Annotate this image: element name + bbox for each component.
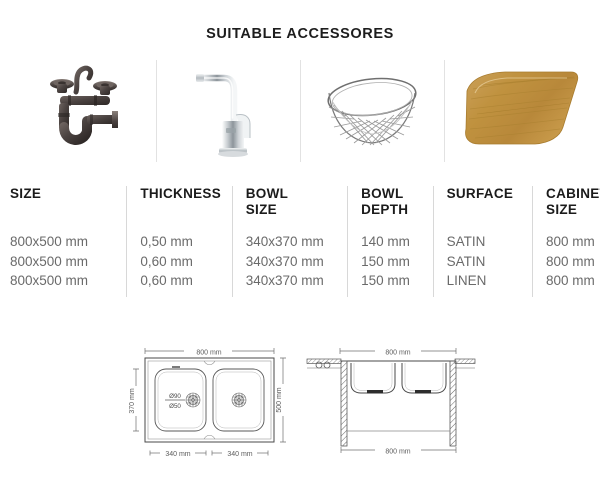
table-cell: 800 mm [546, 271, 584, 291]
table-cell: 340x370 mm [246, 232, 339, 252]
table-column-bowl-size: BOWL SIZE 340x370 mm 340x370 mm 340x370 … [232, 186, 347, 297]
table-cell: 340x370 mm [246, 271, 339, 291]
column-values-thickness: 0,50 mm 0,60 mm 0,60 mm [140, 222, 223, 297]
table-cell: 800 mm [546, 252, 584, 272]
table-column-surface: SURFACE SATIN SATIN LINEN [433, 186, 532, 297]
wooden-cutting-board-icon [453, 65, 579, 157]
dimension-label-height: 500 mm [276, 387, 283, 412]
spec-table: SIZE 800x500 mm 800x500 mm 800x500 mm TH… [10, 186, 592, 297]
column-values-size: 800x500 mm 800x500 mm 800x500 mm [10, 222, 118, 297]
column-header-surface: SURFACE [447, 186, 524, 222]
dimension-label-drain-inner: Ø50 [169, 403, 181, 410]
kitchen-faucet-icon [176, 58, 280, 164]
accessory-sink-drain-siphon-assembly [12, 56, 156, 166]
spec-sheet-page: SUITABLE ACCESSORES [0, 0, 600, 500]
dimension-label-drain-outer: Ø90 [169, 393, 181, 400]
accessory-wire-strainer-basket [300, 56, 444, 166]
column-header-thickness: THICKNESS [140, 186, 223, 222]
table-cell: 800x500 mm [10, 252, 118, 272]
column-values-surface: SATIN SATIN LINEN [447, 222, 524, 297]
table-cell: 140 mm [361, 232, 425, 252]
table-cell: 0,50 mm [140, 232, 223, 252]
table-cell: 0,60 mm [140, 271, 223, 291]
table-cell: SATIN [447, 232, 524, 252]
table-cell: 150 mm [361, 271, 425, 291]
dimension-label-bowl-width-left: 340 mm [165, 451, 190, 458]
table-cell: SATIN [447, 252, 524, 272]
accessory-kitchen-faucet [156, 56, 300, 166]
table-cell: LINEN [447, 271, 524, 291]
table-column-thickness: THICKNESS 0,50 mm 0,60 mm 0,60 mm [126, 186, 231, 297]
accessory-wooden-cutting-board [444, 56, 588, 166]
accessories-row [12, 56, 588, 166]
table-cell: 150 mm [361, 252, 425, 272]
table-cell: 800 mm [546, 232, 584, 252]
column-header-cabinet-size: CABINET SIZE [546, 186, 584, 222]
technical-drawings: 800 mm [0, 338, 600, 474]
dimension-label-width: 800 mm [196, 350, 221, 357]
column-values-bowl-depth: 140 mm 150 mm 150 mm [361, 222, 425, 297]
column-values-bowl-size: 340x370 mm 340x370 mm 340x370 mm [246, 222, 339, 297]
column-header-bowl-depth: BOWL DEPTH [361, 186, 425, 222]
dimension-label-section-bottom-width: 800 mm [385, 449, 410, 456]
table-column-size: SIZE 800x500 mm 800x500 mm 800x500 mm [10, 186, 126, 297]
column-values-cabinet-size: 800 mm 800 mm 800 mm [546, 222, 584, 297]
table-cell: 340x370 mm [246, 252, 339, 272]
table-cell: 800x500 mm [10, 271, 118, 291]
table-column-cabinet-size: CABINET SIZE 800 mm 800 mm 800 mm [532, 186, 592, 297]
page-title: SUITABLE ACCESSORES [0, 26, 600, 42]
dimension-label-section-top-width: 800 mm [385, 350, 410, 357]
sink-top-view-drawing: 800 mm [122, 338, 298, 470]
wire-strainer-basket-icon [316, 61, 428, 161]
table-cell: 0,60 mm [140, 252, 223, 272]
column-header-size: SIZE [10, 186, 118, 222]
dimension-label-bowl-width-right: 340 mm [227, 451, 252, 458]
table-column-bowl-depth: BOWL DEPTH 140 mm 150 mm 150 mm [347, 186, 433, 297]
column-header-bowl-size: BOWL SIZE [246, 186, 339, 222]
sink-section-view-drawing: 800 mm [303, 338, 489, 470]
dimension-label-bowl-height: 370 mm [129, 388, 136, 413]
table-cell: 800x500 mm [10, 232, 118, 252]
sink-drain-siphon-icon [32, 59, 136, 163]
